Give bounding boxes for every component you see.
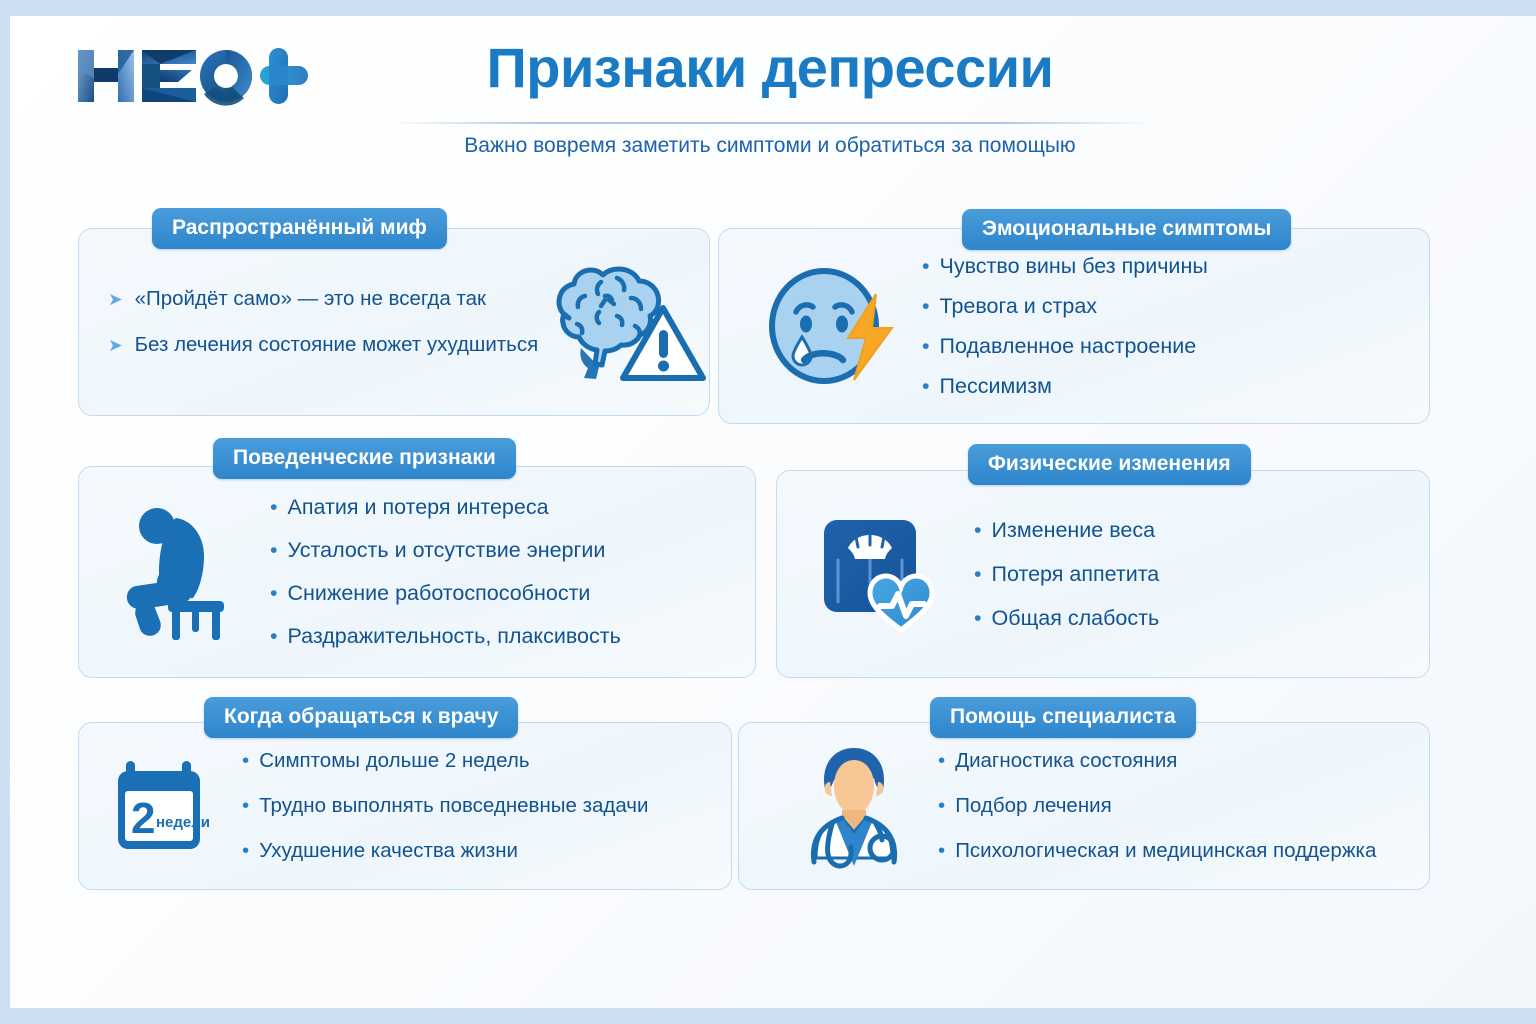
list-item: •Тревога и страх bbox=[922, 294, 1208, 319]
list-item: •Психологическая и медицинская поддержка bbox=[938, 839, 1376, 863]
list-item-label: Тревога и страх bbox=[940, 294, 1098, 319]
card-physical-body: •Изменение веса •Потеря аппетита •Общая … bbox=[776, 470, 1430, 678]
list-item-label: Ухудшение качества жизни bbox=[259, 839, 518, 863]
list-item-label: Снижение работоспособности bbox=[288, 581, 591, 606]
infographic-page: Признаки депрессии Важно вовремя заметит… bbox=[0, 0, 1536, 1024]
list-item: •Подавленное настроение bbox=[922, 334, 1208, 359]
list-item: •Диагностика состояния bbox=[938, 749, 1376, 773]
dot-bullet-icon: • bbox=[270, 540, 278, 562]
list-item-label: Симптомы дольше 2 недель bbox=[259, 749, 529, 773]
dot-bullet-icon: • bbox=[974, 608, 982, 630]
card-when-body: 2 недели •Симптомы дольше 2 недель •Труд… bbox=[78, 722, 732, 890]
card-help-list: •Диагностика состояния •Подбор лечения •… bbox=[938, 749, 1376, 863]
dot-bullet-icon: • bbox=[922, 336, 930, 358]
dot-bullet-icon: • bbox=[938, 841, 945, 862]
list-item-label: Подбор лечения bbox=[955, 794, 1112, 818]
list-item-label: Потеря аппетита bbox=[992, 562, 1160, 587]
dot-bullet-icon: • bbox=[974, 520, 982, 542]
list-item-label: Апатия и потеря интереса bbox=[288, 495, 549, 520]
arrow-bullet-icon: ➤ bbox=[108, 289, 123, 310]
page-title: Признаки депрессии bbox=[330, 38, 1210, 98]
dot-bullet-icon: • bbox=[270, 497, 278, 519]
list-item: •Усталость и отсутствие энергии bbox=[270, 538, 621, 563]
dot-bullet-icon: • bbox=[922, 256, 930, 278]
list-item: •Чувство вины без причины bbox=[922, 254, 1208, 279]
dot-bullet-icon: • bbox=[270, 583, 278, 605]
list-item-label: Раздражительность, плаксивость bbox=[288, 624, 621, 649]
dot-bullet-icon: • bbox=[242, 841, 249, 862]
sitting-person-icon bbox=[122, 504, 248, 640]
list-item-label: Общая слабость bbox=[992, 606, 1160, 631]
list-item: •Ухудшение качества жизни bbox=[242, 839, 648, 863]
calendar-number: 2 bbox=[131, 794, 155, 843]
list-item: •Потеря аппетита bbox=[974, 562, 1159, 587]
list-item-label: Трудно выполнять повседневные задачи bbox=[259, 794, 648, 818]
card-physical-list: •Изменение веса •Потеря аппетита •Общая … bbox=[974, 518, 1159, 631]
dot-bullet-icon: • bbox=[270, 626, 278, 648]
card-help-body: •Диагностика состояния •Подбор лечения •… bbox=[738, 722, 1430, 890]
calendar-caption: недели bbox=[156, 814, 210, 831]
list-item-label: Без лечения состояние может ухудшиться bbox=[135, 333, 539, 357]
card-myth-badge: Распространённый миф bbox=[152, 208, 447, 249]
list-item: •Подбор лечения bbox=[938, 794, 1376, 818]
top-edge-band bbox=[0, 0, 1536, 16]
list-item: •Общая слабость bbox=[974, 606, 1159, 631]
list-item-label: «Пройдёт само» — это не всегда так bbox=[135, 287, 486, 311]
page-header: Признаки депрессии Важно вовремя заметит… bbox=[0, 16, 1536, 168]
card-behavioral-badge: Поведенческие признаки bbox=[213, 438, 516, 479]
list-item: •Апатия и потеря интереса bbox=[270, 495, 621, 520]
dot-bullet-icon: • bbox=[938, 751, 945, 772]
card-when-list: •Симптомы дольше 2 недель •Трудно выполн… bbox=[242, 749, 648, 863]
card-emotional-badge: Эмоциональные симптомы bbox=[962, 209, 1291, 250]
list-item: •Трудно выполнять повседневные задачи bbox=[242, 794, 648, 818]
list-item-label: Психологическая и медицинская поддержка bbox=[955, 839, 1376, 863]
brain-warning-icon bbox=[538, 256, 708, 388]
card-myth-list: ➤«Пройдёт само» — это не всегда так ➤Без… bbox=[108, 287, 538, 357]
doctor-icon bbox=[788, 742, 920, 870]
list-item: ➤Без лечения состояние может ухудшиться bbox=[108, 333, 538, 357]
card-physical-badge: Физические изменения bbox=[968, 444, 1251, 485]
list-item: •Раздражительность, плаксивость bbox=[270, 624, 621, 649]
scale-heart-pulse-icon bbox=[818, 512, 948, 636]
bottom-edge-band bbox=[0, 1008, 1536, 1024]
neo-plus-logo bbox=[72, 38, 312, 114]
card-help-badge: Помощь специалиста bbox=[930, 697, 1196, 738]
card-behavioral-body: •Апатия и потеря интереса •Усталость и о… bbox=[78, 466, 756, 678]
card-behavioral-list: •Апатия и потеря интереса •Усталость и о… bbox=[270, 495, 621, 649]
card-myth-body: ➤«Пройдёт само» — это не всегда так ➤Без… bbox=[78, 228, 710, 416]
card-emotional-list: •Чувство вины без причины •Тревога и стр… bbox=[922, 254, 1208, 399]
list-item: •Пессимизм bbox=[922, 374, 1208, 399]
list-item: ➤«Пройдёт само» — это не всегда так bbox=[108, 287, 538, 311]
calendar-two-weeks-icon: 2 недели bbox=[108, 753, 220, 859]
card-emotional-body: •Чувство вины без причины •Тревога и стр… bbox=[718, 228, 1430, 424]
list-item-label: Изменение веса bbox=[992, 518, 1156, 543]
title-divider bbox=[390, 122, 1150, 124]
page-subtitle: Важно вовремя заметить симптоми и обрати… bbox=[330, 134, 1210, 158]
dot-bullet-icon: • bbox=[922, 376, 930, 398]
dot-bullet-icon: • bbox=[974, 564, 982, 586]
sad-face-lightning-icon bbox=[764, 264, 900, 388]
dot-bullet-icon: • bbox=[242, 751, 249, 772]
arrow-bullet-icon: ➤ bbox=[108, 335, 123, 356]
list-item-label: Чувство вины без причины bbox=[940, 254, 1208, 279]
dot-bullet-icon: • bbox=[922, 296, 930, 318]
list-item: •Изменение веса bbox=[974, 518, 1159, 543]
dot-bullet-icon: • bbox=[242, 796, 249, 817]
list-item-label: Диагностика состояния bbox=[955, 749, 1177, 773]
dot-bullet-icon: • bbox=[938, 796, 945, 817]
list-item-label: Усталость и отсутствие энергии bbox=[288, 538, 606, 563]
list-item-label: Подавленное настроение bbox=[940, 334, 1197, 359]
list-item: •Снижение работоспособности bbox=[270, 581, 621, 606]
list-item: •Симптомы дольше 2 недель bbox=[242, 749, 648, 773]
list-item-label: Пессимизм bbox=[940, 374, 1052, 399]
card-when-badge: Когда обращаться к врачу bbox=[204, 697, 518, 738]
